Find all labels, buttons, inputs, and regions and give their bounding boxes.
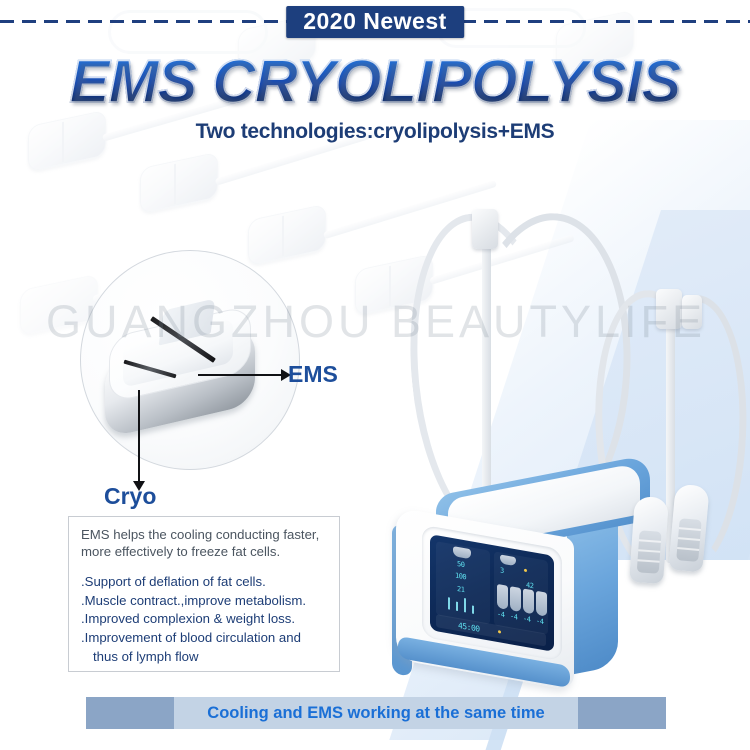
screen-panel-left[interactable]: 50 100 21 xyxy=(436,541,490,625)
cryo-callout-label: Cryo xyxy=(104,483,156,510)
benefit-item: .Improved complexion & weight loss. xyxy=(81,610,329,629)
benefit-item: .Improvement of blood circulation and th… xyxy=(81,629,329,666)
benefit-item-line2: thus of lymph flow xyxy=(81,648,329,667)
applicator-pad-icon xyxy=(523,588,534,614)
screen-value: 100 xyxy=(455,571,466,581)
cable-hanger-hook xyxy=(656,289,682,329)
screen-tick xyxy=(448,597,450,609)
screen-timer: 45:00 xyxy=(458,621,480,634)
screen-tick xyxy=(472,605,474,613)
handle-grip xyxy=(676,518,702,562)
ghost-pad-body xyxy=(248,204,326,267)
cryo-arrow-icon xyxy=(138,390,140,482)
caption-bar-left-cap xyxy=(86,697,174,729)
product-poster: 2020 Newest EMS CRYOLIPOLYSIS Two techno… xyxy=(0,0,750,750)
cable-hanger-hook xyxy=(682,295,702,329)
applicator-pad-icon xyxy=(510,586,521,612)
screen-value: -4 xyxy=(510,612,517,621)
screen-value: -4 xyxy=(523,614,530,623)
handle-grip xyxy=(637,530,662,573)
ghost-applicator-icon xyxy=(248,212,326,258)
page-subtitle: Two technologies:cryolipolysis+EMS xyxy=(0,120,750,144)
page-title: EMS CRYOLIPOLYSIS xyxy=(0,52,750,112)
caption-text: Cooling and EMS working at the same time xyxy=(174,697,578,729)
ghost-pad-seam xyxy=(282,216,284,256)
screen-tick xyxy=(464,598,466,612)
screen-value: 3 xyxy=(500,566,504,575)
screen-status-dot xyxy=(498,630,501,634)
screen-value: -4 xyxy=(497,610,504,619)
screen-panel-right[interactable]: 3 42 -4 -4 -4 -4 xyxy=(494,551,548,635)
applicator-pad-icon xyxy=(536,591,547,617)
ems-callout-label: EMS xyxy=(288,361,338,388)
info-box-intro: EMS helps the cooling conducting faster,… xyxy=(81,527,329,561)
screen-chip-icon xyxy=(500,554,516,566)
ghost-applicator-icon xyxy=(140,160,218,206)
benefit-item: .Muscle contract.,improve metabolism. xyxy=(81,592,329,611)
applicator-pad-icon xyxy=(497,584,508,610)
bottom-caption-bar: Cooling and EMS working at the same time xyxy=(86,697,666,729)
screen-value: 21 xyxy=(457,585,464,594)
applicator-3d-illustration xyxy=(99,305,267,430)
screen-status-dot xyxy=(524,569,527,573)
benefits-info-box: EMS helps the cooling conducting faster,… xyxy=(68,516,340,672)
badge-2020-newest: 2020 Newest xyxy=(286,6,464,38)
benefit-item-line1: .Improvement of blood circulation and xyxy=(81,630,301,645)
caption-bar-right-cap xyxy=(578,697,666,729)
cryolipolysis-machine-illustration: 50 100 21 3 42 -4 xyxy=(360,185,750,655)
applicator-closeup-circle xyxy=(80,250,300,470)
screen-tick xyxy=(456,602,458,611)
benefit-item: .Support of deflation of fat cells. xyxy=(81,573,329,592)
ghost-pad-body xyxy=(140,152,218,215)
screen-chip-icon xyxy=(453,546,471,559)
applicator-handle[interactable] xyxy=(629,496,669,584)
screen-value: 50 xyxy=(457,560,464,569)
ghost-pad-seam xyxy=(174,164,176,204)
cable-hanger-hook xyxy=(472,209,498,249)
ems-arrow-icon xyxy=(198,374,282,376)
screen-value: -4 xyxy=(536,617,543,626)
machine-body: 50 100 21 3 42 -4 xyxy=(396,475,656,675)
